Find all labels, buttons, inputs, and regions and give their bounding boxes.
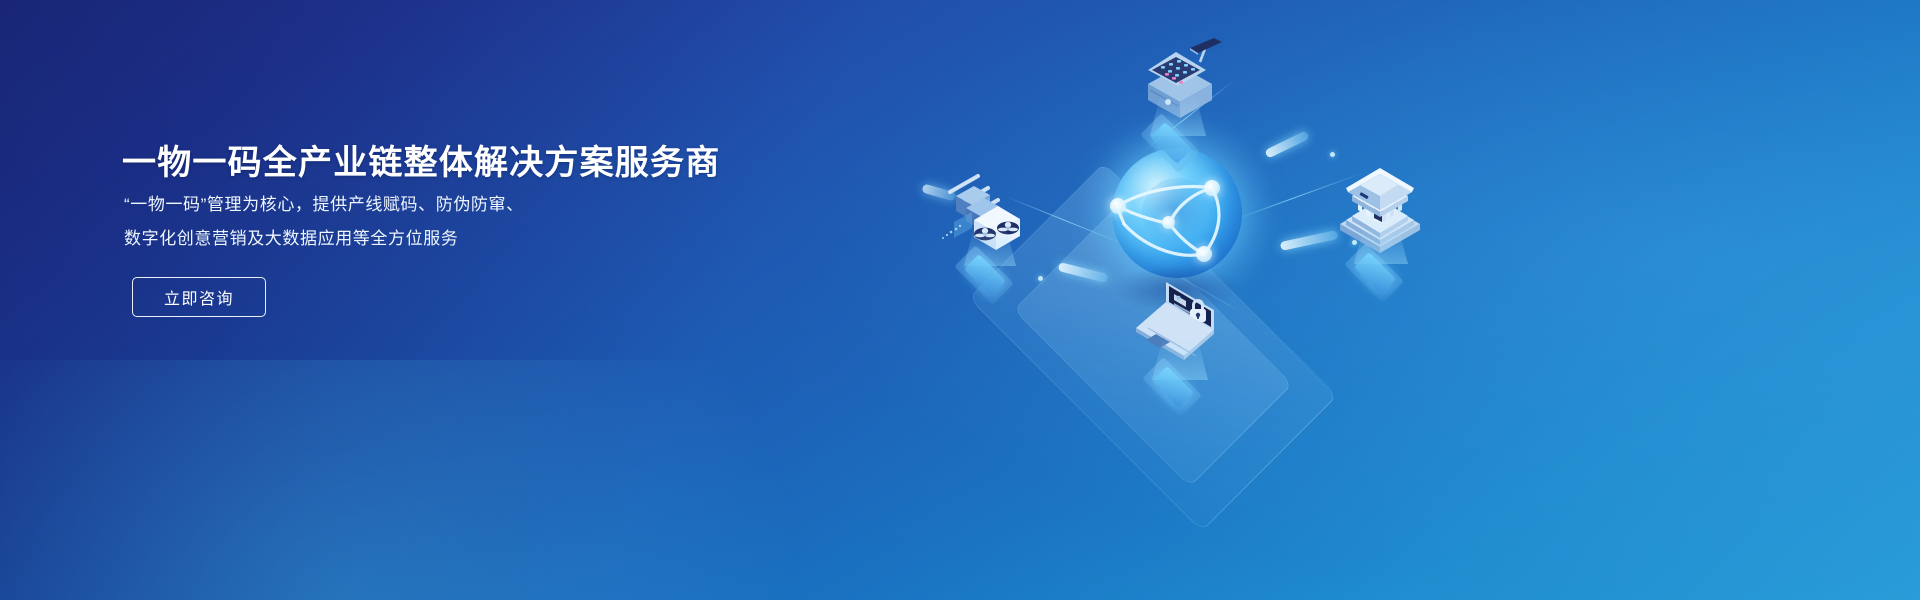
bank-building-node: [1328, 148, 1438, 258]
hero-content: 一物一码全产业链整体解决方案服务商 “一物一码”管理为核心，提供产线赋码、防伪防…: [118, 0, 878, 600]
sphere-node-left: [1110, 198, 1126, 214]
subtitle-line-1: “一物一码”管理为核心，提供产线赋码、防伪防窜、: [124, 190, 524, 215]
hero-banner: 一物一码全产业链整体解决方案服务商 “一物一码”管理为核心，提供产线赋码、防伪防…: [0, 0, 1920, 600]
pos-terminal-node: [1128, 30, 1238, 130]
subtitle-line-2: 数字化创意营销及大数据应用等全方位服务: [124, 224, 458, 249]
sphere-node-bottom: [1196, 246, 1212, 262]
server-base: [966, 256, 1020, 286]
sphere-node-top: [1204, 180, 1220, 196]
page-title: 一物一码全产业链整体解决方案服务商: [122, 135, 720, 184]
secure-laptop-node: [1122, 272, 1242, 372]
bank-base: [1356, 254, 1410, 284]
laptop-base: [1154, 368, 1208, 398]
sphere-node-center: [1162, 216, 1175, 229]
pos-base: [1152, 124, 1206, 154]
consult-now-button[interactable]: 立即咨询: [132, 277, 266, 317]
iot-network-illustration: [860, 0, 1920, 600]
server-fan-node: [938, 160, 1048, 260]
data-dot-c: [1038, 276, 1043, 281]
